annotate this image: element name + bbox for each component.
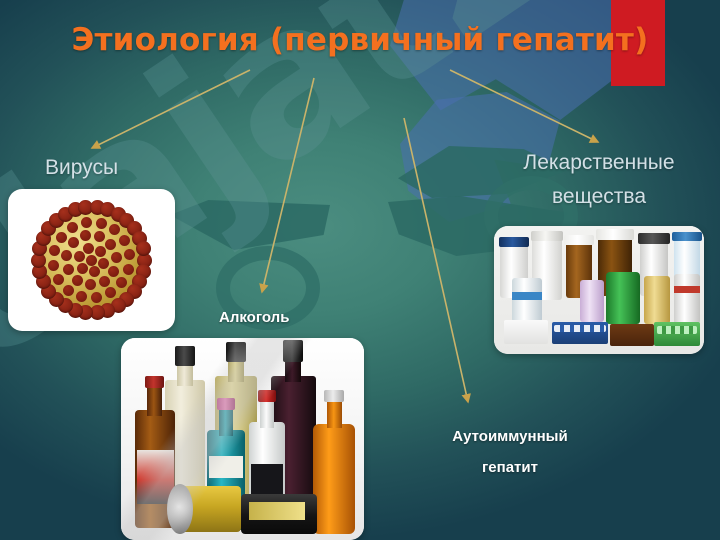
blue-blob-shape [390, 0, 620, 120]
arrow-to-autoimmune [404, 118, 468, 402]
label-autoimmune: Аутоиммунный гепатит [420, 421, 600, 483]
label-autoimmune-line1: Аутоиммунный [420, 421, 600, 452]
virus-spike [77, 263, 88, 274]
label-alcohol: Алкоголь [219, 309, 289, 326]
label-drugs: Лекарственные вещества [498, 146, 700, 214]
slide-canvas: Uajat24 Uajat24 Этиология (первичный геп… [0, 0, 720, 540]
page-title: Этиология (первичный гепатит) [0, 22, 720, 58]
virus-spike [105, 239, 116, 250]
virus-spike [96, 218, 107, 229]
virus-spike [61, 250, 72, 261]
alcohol-bottles-photo [121, 338, 364, 540]
virus-spike [86, 255, 97, 266]
arrow-to-drugs [450, 70, 598, 142]
medicine-bottles-photo [494, 226, 704, 354]
virus-spike [49, 245, 60, 256]
virus-spike [48, 260, 59, 271]
virus-spike [67, 222, 78, 233]
label-drugs-line2: вещества [498, 180, 700, 214]
virus-particle-photo [8, 189, 175, 331]
label-autoimmune-line2: гепатит [420, 452, 600, 483]
virus-spike [56, 232, 67, 243]
label-drugs-line1: Лекарственные [498, 146, 700, 180]
arrow-to-viruses [92, 70, 250, 148]
virus-spike [83, 243, 94, 254]
virus-spike [81, 217, 92, 228]
virus-spike [63, 285, 74, 296]
teal-shape [170, 200, 330, 250]
image-card-virus [8, 189, 175, 331]
virus-spike [108, 266, 119, 277]
image-card-drugs [494, 226, 704, 354]
arrow-to-alcohol [262, 78, 314, 292]
virus-spike [98, 258, 109, 269]
virus-illustration [31, 199, 153, 321]
image-card-alcohol [121, 338, 364, 540]
virus-spike [91, 292, 102, 303]
label-viruses: Вирусы [45, 156, 118, 180]
virus-spike [53, 274, 64, 285]
virus-spike [105, 287, 116, 298]
